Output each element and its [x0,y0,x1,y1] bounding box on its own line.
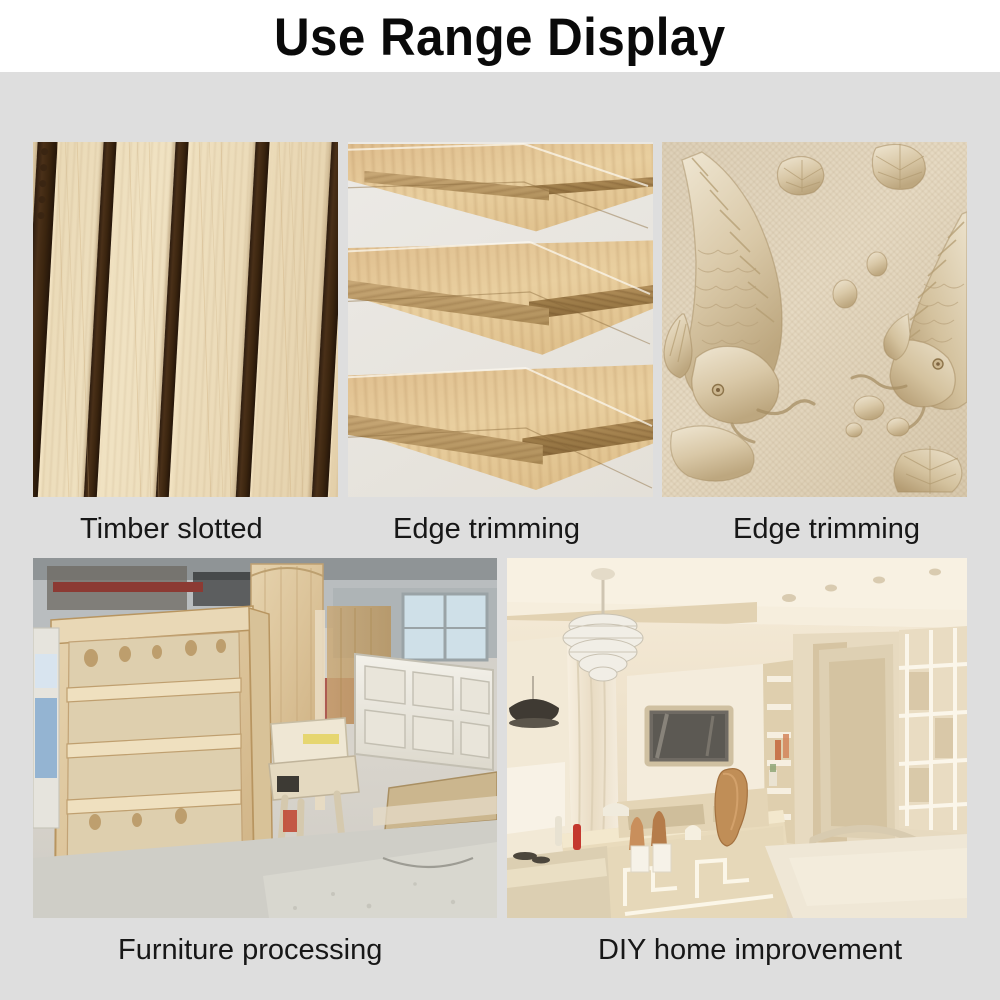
cube-shelf [355,654,493,770]
gallery-caption-furniture-workshop: Furniture processing [118,936,382,965]
gallery-caption-trimmed-panels: Edge trimming [393,515,580,544]
koi-fish-left [664,152,814,442]
gallery-caption-koi-relief: Edge trimming [733,515,920,544]
gallery-image-koi-relief [662,142,967,497]
gallery-grid: Timber slotted [0,72,1000,1000]
koi-carving-overlay [662,142,967,497]
gallery-image-slotted-timber [33,142,338,497]
gallery-caption-beige-interior: DIY home improvement [598,936,902,965]
interior-scene-overlay [507,558,967,918]
header-bar: Use Range Display [0,0,1000,72]
lattice-partition [899,626,967,834]
page-title: Use Range Display [274,11,726,64]
gallery-caption-slotted-timber: Timber slotted [80,515,263,544]
timber-grain-overlay [33,142,338,497]
gallery-image-furniture-workshop [33,558,497,918]
panels-edge-highlights [348,142,653,497]
gallery-image-trimmed-panels [348,142,653,497]
gallery-image-beige-interior [507,558,967,918]
workshop-scene-overlay [33,558,497,918]
use-range-display-banner: Use Range Display [0,0,1000,1000]
